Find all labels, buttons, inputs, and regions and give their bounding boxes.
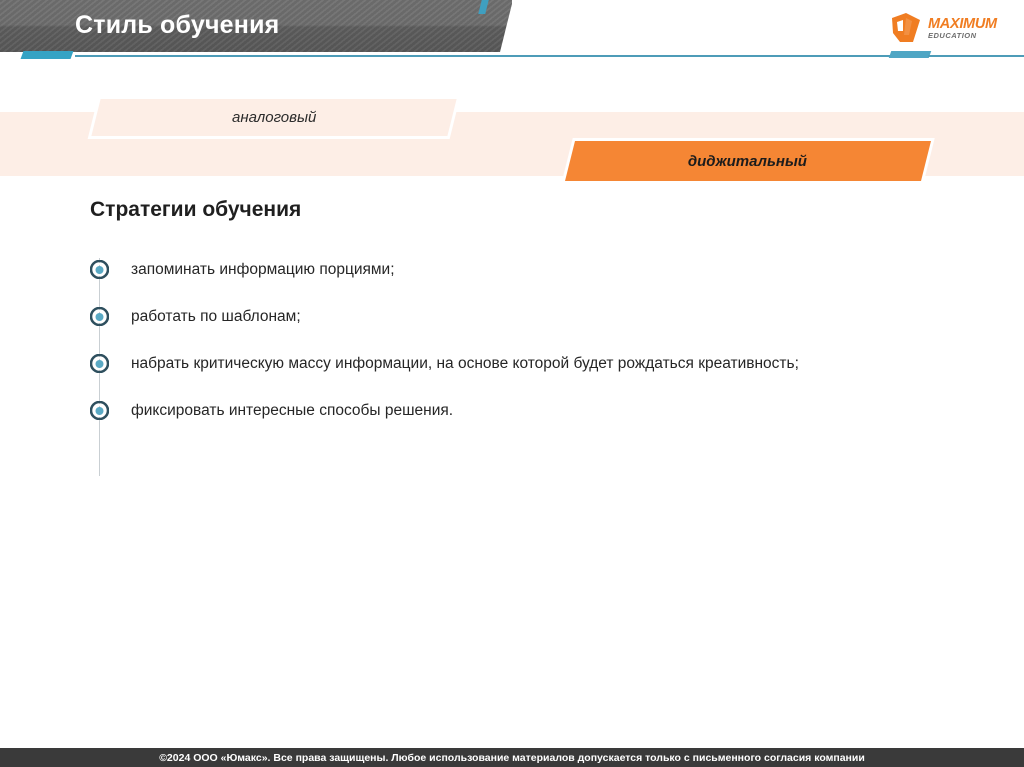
circle-target-icon (90, 260, 109, 279)
section-title: Стратегии обучения (90, 198, 301, 222)
logo-word: MAXIMUM (928, 17, 997, 32)
slide-canvas: Стиль обучения MAXIMUM EDUCATION аналого… (0, 0, 1024, 767)
footer-bar: ©2024 ООО «Юмакс». Все права защищены. Л… (0, 748, 1024, 767)
tab-analogovyy-label: аналоговый (232, 109, 316, 126)
tab-didzhitalnyy-label: диджитальный (688, 153, 807, 170)
list-item: набрать критическую массу информации, на… (90, 352, 920, 376)
logo-wordmark: MAXIMUM EDUCATION (928, 17, 997, 40)
circle-target-icon (90, 401, 109, 420)
list-item-label: работать по шаблонам; (131, 305, 301, 329)
list-item-label: фиксировать интересные способы решения. (131, 399, 453, 423)
brand-logo: MAXIMUM EDUCATION (889, 8, 1004, 48)
logo-subword: EDUCATION (928, 32, 997, 40)
accent-rule-left (75, 55, 925, 57)
list-item: фиксировать интересные способы решения. (90, 399, 920, 423)
list-item: запоминать информацию порциями; (90, 258, 920, 282)
copyright-text: ©2024 ООО «Юмакс». Все права защищены. Л… (159, 752, 865, 764)
circle-target-icon (90, 307, 109, 326)
strategy-bullet-list: запоминать информацию порциями; работать… (90, 258, 920, 446)
list-item: работать по шаблонам; (90, 305, 920, 329)
list-item-label: запоминать информацию порциями; (131, 258, 395, 282)
accent-rule-right (928, 55, 1024, 57)
circle-target-icon (90, 354, 109, 373)
maximum-logo-mark-icon (889, 11, 923, 45)
accent-dash-right (889, 51, 932, 58)
accent-dash-left (21, 51, 74, 59)
tab-analogovyy[interactable]: аналоговый (91, 99, 456, 136)
page-title: Стиль обучения (75, 11, 279, 40)
tab-didzhitalnyy[interactable]: диджитальный (565, 141, 931, 181)
list-item-label: набрать критическую массу информации, на… (131, 352, 799, 376)
